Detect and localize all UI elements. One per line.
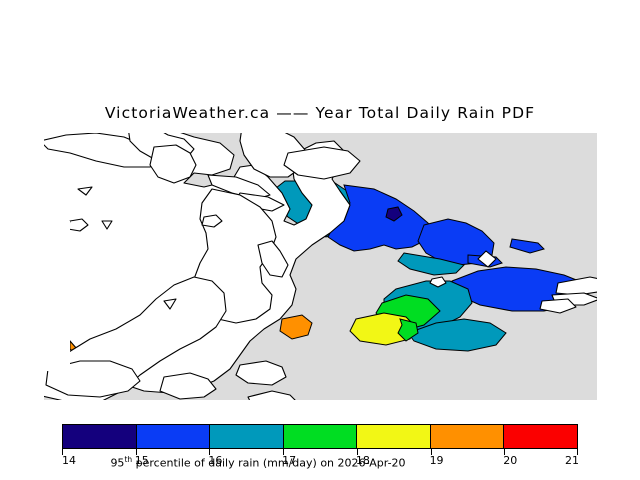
weather-map-figure: VictoriaWeather.ca —— Year Total Daily R… bbox=[0, 0, 640, 480]
caption-ordinal: th bbox=[124, 455, 132, 464]
colorbar-segment-14-15 bbox=[63, 425, 137, 448]
colorbar-caption: 95th percentile of daily rain (mm/day) o… bbox=[0, 455, 578, 470]
colorbar-segment-18-19 bbox=[357, 425, 431, 448]
map-graphic bbox=[44, 133, 597, 400]
land-south-island-c bbox=[236, 361, 286, 385]
colorbar-segment-19-20 bbox=[431, 425, 505, 448]
land-layer bbox=[44, 133, 597, 400]
land-islet-c bbox=[248, 391, 296, 400]
colorbar-segment-16-17 bbox=[210, 425, 284, 448]
contour-region-15-16-islet-b bbox=[510, 239, 544, 253]
data-domain-west-mask bbox=[44, 221, 70, 371]
colorbar-swatches bbox=[62, 424, 578, 449]
contour-region-19-20-island bbox=[280, 315, 312, 339]
caption-prefix: 95 bbox=[110, 457, 124, 470]
colorbar-segment-15-16 bbox=[137, 425, 211, 448]
caption-suffix: percentile of daily rain (mm/day) on 202… bbox=[132, 457, 405, 470]
colorbar-segment-17-18 bbox=[284, 425, 358, 448]
colorbar-segment-20-21 bbox=[504, 425, 577, 448]
figure-title: VictoriaWeather.ca —— Year Total Daily R… bbox=[0, 104, 640, 122]
map-plot-area bbox=[44, 133, 597, 400]
